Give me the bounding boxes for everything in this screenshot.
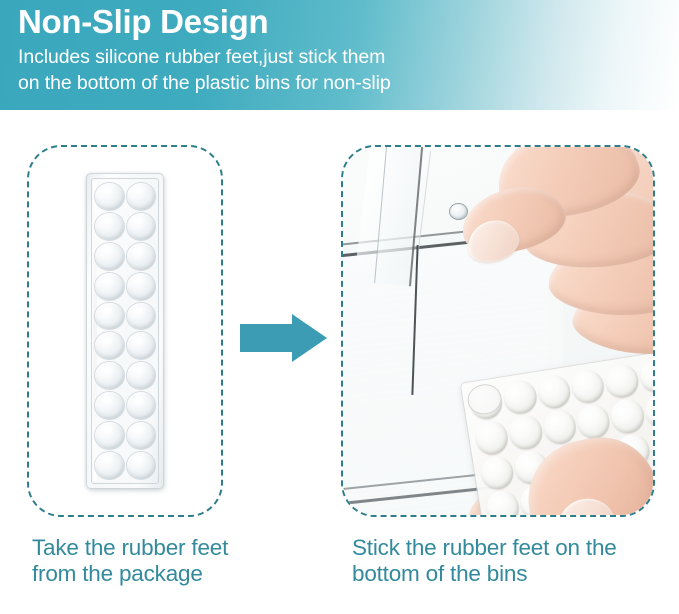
arrow-right-icon [240,313,328,363]
rubber-foot [643,392,653,430]
rubber-foot [127,392,156,419]
blister-package-image [86,173,164,489]
rubber-foot [473,419,510,457]
rubber-foot [127,332,156,359]
rubber-foot [127,213,156,240]
rubber-foot [95,183,124,210]
step-1-caption: Take the rubber feet from the package [32,535,262,587]
rubber-foot [95,243,124,270]
rubber-foot [127,273,156,300]
rubber-foot [484,489,521,515]
rubber-foot [127,362,156,389]
rubber-foot [127,422,156,449]
bin-and-hands-photo [343,147,653,515]
upper-hand [453,147,653,383]
page-title: Non-Slip Design [18,2,268,42]
rubber-foot [127,303,156,330]
rubber-foot [95,422,124,449]
rubber-foot [502,378,539,416]
step-2-caption: Stick the rubber feet on the bottom of t… [352,535,652,587]
rubber-foot [95,273,124,300]
rubber-foot [479,454,516,492]
rubber-foot [95,392,124,419]
rubber-foot [127,183,156,210]
rubber-foot [127,452,156,479]
header-banner: Non-Slip Design Includes silicone rubber… [0,0,679,110]
rubber-foot [95,213,124,240]
rubber-foot [575,403,612,441]
header-subtitle-line-1: Includes silicone rubber feet,just stick… [18,45,391,71]
rubber-foot [127,243,156,270]
rubber-foot [95,452,124,479]
rubber-foot [609,397,646,435]
step-2-image-panel [341,145,655,517]
header-subtitle: Includes silicone rubber feet,just stick… [18,45,391,96]
step-1-image-panel [27,145,223,517]
header-subtitle-line-2: on the bottom of the plastic bins for no… [18,71,391,97]
rubber-foot [95,362,124,389]
rubber-feet-grid [94,182,156,480]
rubber-foot [507,413,544,451]
rubber-foot [541,408,578,446]
rubber-foot [95,332,124,359]
rubber-foot [95,303,124,330]
rubber-foot [648,427,653,465]
